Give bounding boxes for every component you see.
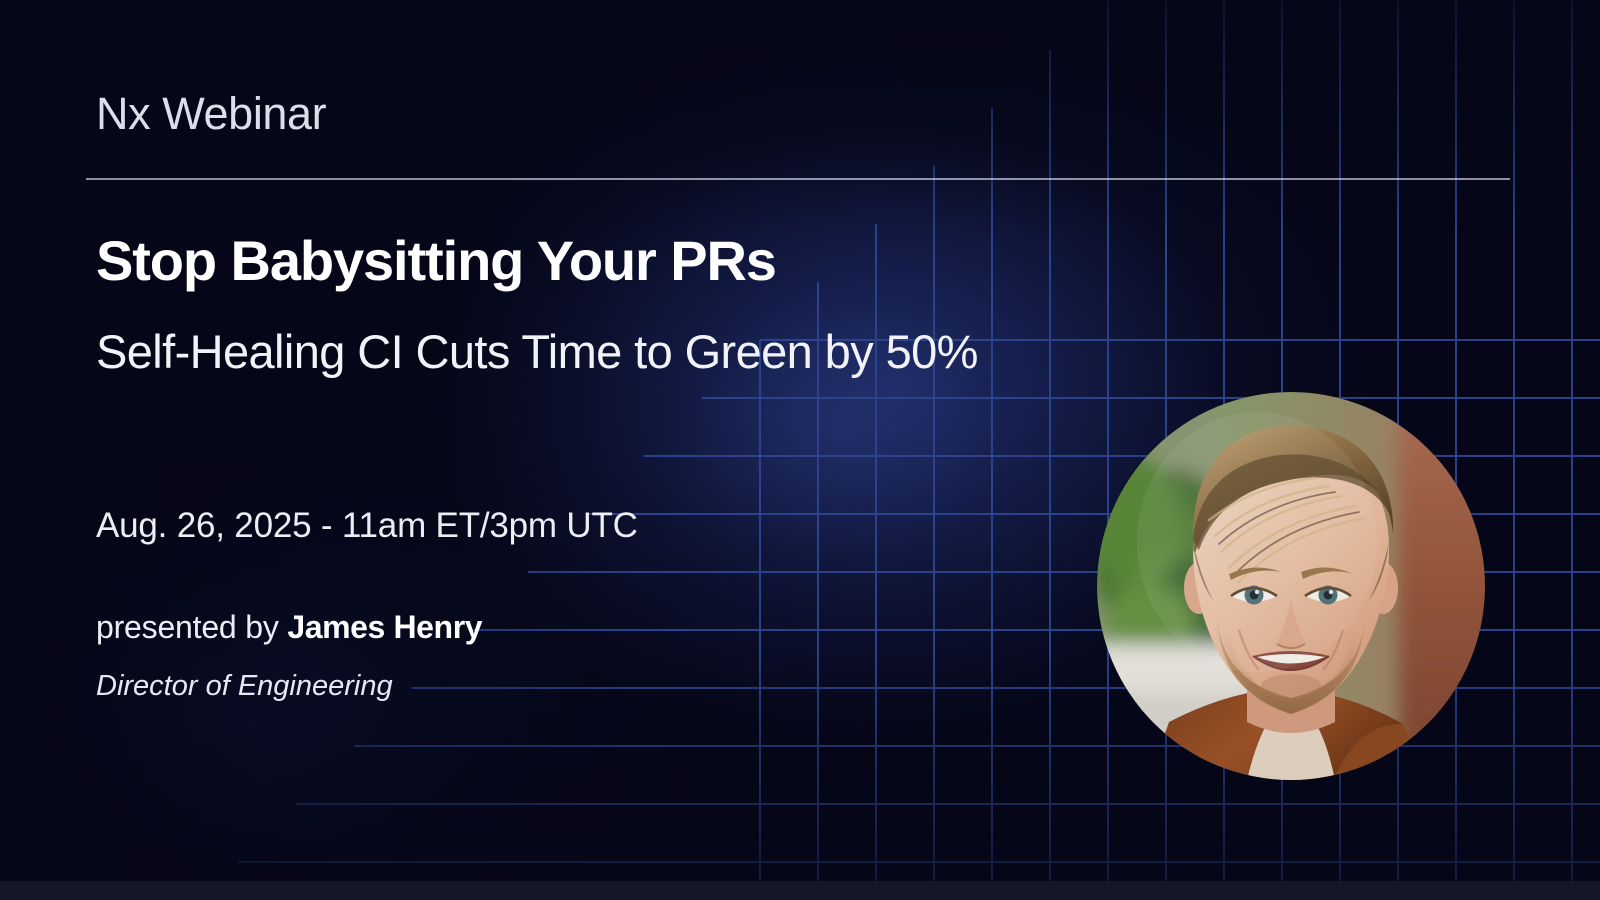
page-title: Stop Babysitting Your PRs: [96, 230, 776, 293]
avatar: [1097, 392, 1485, 780]
presenter-name: James Henry: [287, 609, 482, 645]
avatar-photo: [1097, 392, 1485, 780]
event-datetime: Aug. 26, 2025 - 11am ET/3pm UTC: [96, 505, 638, 547]
presenter-line: presented by James Henry: [96, 608, 482, 646]
webinar-promo-card: Nx Webinar Stop Babysitting Your PRs Sel…: [0, 0, 1600, 900]
presented-by-label: presented by: [96, 609, 287, 645]
eyebrow-label: Nx Webinar: [96, 88, 326, 140]
page-subtitle: Self-Healing CI Cuts Time to Green by 50…: [96, 315, 1106, 389]
header-divider: [86, 178, 1510, 180]
presenter-role: Director of Engineering: [96, 669, 393, 704]
content-column: Nx Webinar Stop Babysitting Your PRs Sel…: [96, 0, 1146, 900]
bottom-bar: [0, 881, 1600, 900]
